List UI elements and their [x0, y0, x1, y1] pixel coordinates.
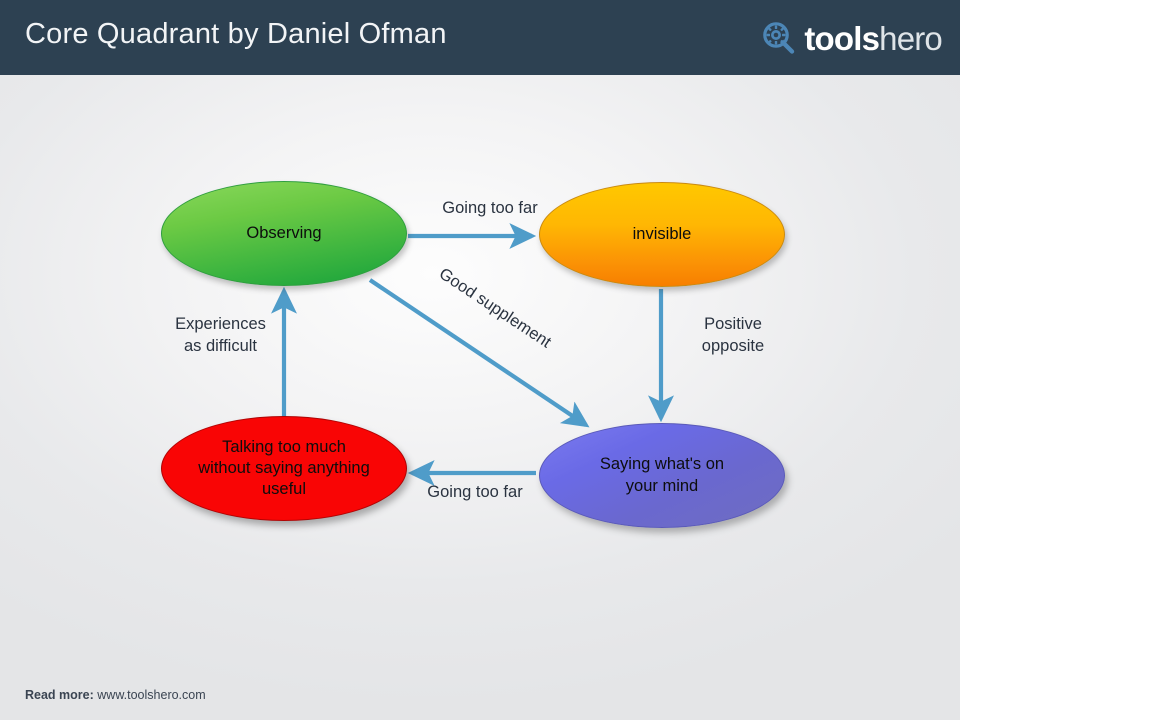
node-invisible[interactable]: invisible	[539, 182, 785, 287]
logo-text-hero: hero	[879, 20, 942, 57]
node-talking-label: Talking too much without saying anything…	[180, 437, 388, 500]
edge-label-going-too-far-bottom: Going too far	[400, 481, 550, 503]
edge-label-going-too-far-top: Going too far	[420, 197, 560, 219]
edge-label-positive-opposite: Positive opposite	[668, 313, 798, 358]
edge-label-experiences-as-difficult: Experiences as difficult	[148, 313, 293, 358]
slide-header: Core Quadrant by Daniel Ofman	[0, 0, 960, 75]
page-title: Core Quadrant by Daniel Ofman	[25, 18, 447, 51]
node-saying-whats-on-your-mind[interactable]: Saying what's on your mind	[539, 423, 785, 528]
node-saying-label: Saying what's on your mind	[582, 454, 742, 496]
logo-wordmark: toolshero	[804, 22, 942, 55]
core-quadrant-diagram: Observing invisible Talking too much wit…	[0, 75, 960, 675]
node-observing[interactable]: Observing	[161, 181, 407, 286]
arrow-layer	[0, 75, 960, 675]
footer-read-more: Read more: www.toolshero.com	[25, 688, 206, 702]
magnifier-gear-icon	[761, 20, 797, 56]
node-observing-label: Observing	[228, 223, 339, 244]
node-invisible-label: invisible	[615, 224, 710, 245]
logo-text-tools: tools	[804, 20, 879, 57]
footer-label: Read more:	[25, 688, 94, 702]
slide-canvas: Core Quadrant by Daniel Ofman	[0, 0, 960, 720]
node-talking-too-much[interactable]: Talking too much without saying anything…	[161, 416, 407, 521]
toolshero-logo: toolshero	[761, 17, 942, 59]
footer-url[interactable]: www.toolshero.com	[97, 688, 205, 702]
